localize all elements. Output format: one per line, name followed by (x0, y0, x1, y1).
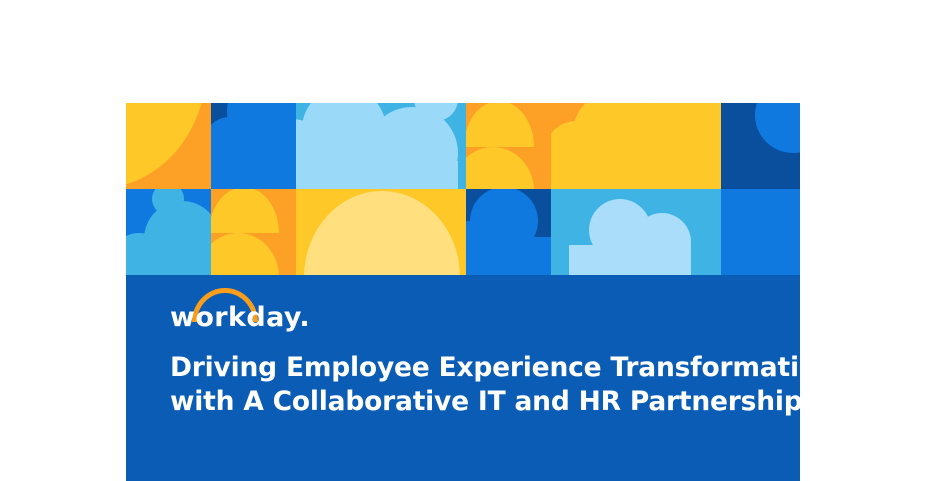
workday-ebook-cover-card[interactable]: workday. Driving Employee Experience Tra… (126, 103, 800, 481)
mosaic-tile-r2c6 (721, 189, 800, 275)
mosaic-tile-r2c5 (551, 189, 721, 275)
mosaic-tile-r1c3 (296, 103, 466, 189)
mosaic-tile-r1c4 (466, 103, 551, 189)
dome-shape (466, 103, 534, 147)
cloud-base-shape (211, 143, 296, 189)
cloud-base-shape (126, 255, 211, 275)
dome-shape (211, 233, 279, 275)
quarter-circle-shape (126, 103, 206, 189)
large-dome-shape (304, 191, 460, 275)
mosaic-tile-r2c1 (126, 189, 211, 275)
workday-wordmark: workday. (170, 304, 310, 331)
mosaic-tile-r2c4 (466, 189, 551, 275)
mosaic-tile-r2c3 (296, 189, 466, 275)
dome-shape (721, 189, 800, 275)
cloud-base-shape (551, 151, 721, 189)
mosaic-tile-r1c1 (126, 103, 211, 189)
cloud-base-shape (569, 245, 691, 275)
cloud-tile-mosaic (126, 103, 800, 275)
page-title-line-2: with A Collaborative IT and HR Partnersh… (170, 385, 770, 419)
page-canvas: workday. Driving Employee Experience Tra… (0, 0, 928, 481)
cloud-base-shape (466, 237, 551, 275)
cloud-base-shape (296, 161, 458, 189)
mosaic-tile-r1c6 (721, 103, 800, 189)
mosaic-tile-r1c2 (211, 103, 296, 189)
dome-shape (211, 189, 279, 233)
dome-shape (466, 147, 534, 189)
mosaic-tile-r2c2 (211, 189, 296, 275)
circle-shape (755, 103, 800, 153)
page-title-line-1: Driving Employee Experience Transformati… (170, 351, 770, 385)
mosaic-tile-r1c5 (551, 103, 721, 189)
page-title: Driving Employee Experience Transformati… (170, 351, 770, 419)
workday-logo[interactable]: workday. (170, 288, 280, 334)
